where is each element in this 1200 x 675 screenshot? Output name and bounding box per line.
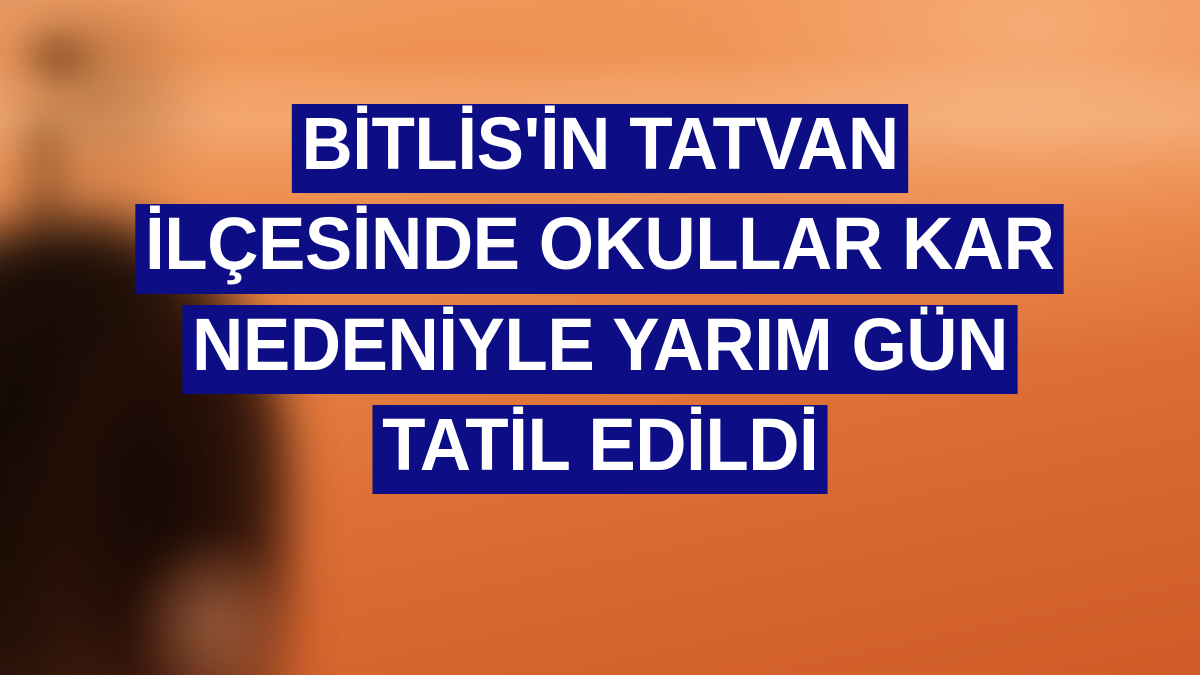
headline-line-1: BİTLİS'İN TATVAN <box>292 104 908 193</box>
headline-block: BİTLİS'İN TATVAN İLÇESİNDE OKULLAR KAR N… <box>0 0 1200 494</box>
headline-line-2: İLÇESİNDE OKULLAR KAR <box>136 204 1065 293</box>
headline-line-4: TATİL EDİLDİ <box>372 405 827 494</box>
news-thumbnail-card: BİTLİS'İN TATVAN İLÇESİNDE OKULLAR KAR N… <box>0 0 1200 675</box>
headline-line-3: NEDENİYLE YARIM GÜN <box>182 305 1017 394</box>
